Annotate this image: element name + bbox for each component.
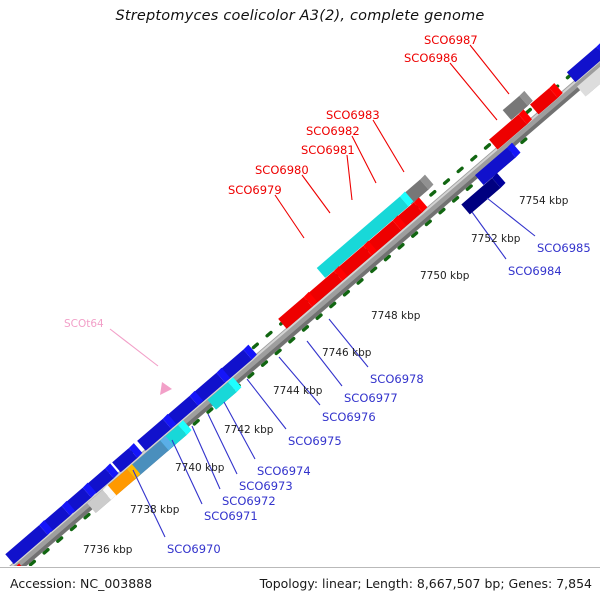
gene-label-sco6986[interactable]: SCO6986 [404,51,458,65]
gene-label-sco6973[interactable]: SCO6973 [239,479,293,493]
leader-line-sco6979 [275,195,304,238]
topology-text: Topology: linear; Length: 8,667,507 bp; … [260,576,592,591]
leader-line-scot64 [110,329,158,366]
leader-line-sco6980 [302,175,330,213]
leader-line-sco6982 [352,136,376,183]
gene-label-sco6982[interactable]: SCO6982 [306,124,360,138]
gene-label-sco6977[interactable]: SCO6977 [344,391,398,405]
axis-tick-label-7742[interactable]: 7742 kbp [224,424,273,436]
gene-label-sco6987[interactable]: SCO6987 [424,33,478,47]
gene-label-sco6978[interactable]: SCO6978 [370,372,424,386]
trna-arrow-shape[interactable] [160,382,172,395]
leader-line-sco6981 [347,155,352,200]
leader-line-sco6983 [373,120,404,172]
gene-label-scot64[interactable]: SCOt64 [64,318,104,330]
strand-minus [0,132,534,600]
axis-tick-label-7740[interactable]: 7740 kbp [175,462,224,474]
axis-tick-label-7736[interactable]: 7736 kbp [83,544,132,556]
axis-tick-label-7744[interactable]: 7744 kbp [273,385,322,397]
gene-label-sco6976[interactable]: SCO6976 [322,410,376,424]
genome-map-canvas[interactable] [0,0,600,600]
axis-tick-label-7750[interactable]: 7750 kbp [420,270,469,282]
leader-line-sco6987 [470,45,509,94]
gene-label-sco6970[interactable]: SCO6970 [167,542,221,556]
gene-label-sco6975[interactable]: SCO6975 [288,434,342,448]
axis-tick-label-7748[interactable]: 7748 kbp [371,310,420,322]
axis-tick-label-7746[interactable]: 7746 kbp [322,347,371,359]
gene-label-sco6985[interactable]: SCO6985 [537,241,591,255]
gene-label-sco6981[interactable]: SCO6981 [301,143,355,157]
status-bar: Accession: NC_003888 Topology: linear; L… [0,567,600,600]
genome-map-viewport[interactable]: Streptomyces coelicolor A3(2), complete … [0,0,600,600]
leader-line-sco6976 [279,357,320,405]
gene-label-sco6972[interactable]: SCO6972 [222,494,276,508]
gene-label-sco6971[interactable]: SCO6971 [204,509,258,523]
leader-line-sco6978 [329,319,368,367]
gene-label-sco6983[interactable]: SCO6983 [326,108,380,122]
gene-label-sco6984[interactable]: SCO6984 [508,264,562,278]
leader-line-sco6972 [192,426,220,489]
axis-tick-label-7738[interactable]: 7738 kbp [130,504,179,516]
axis-tick-label-7754[interactable]: 7754 kbp [519,195,568,207]
gene-label-sco6974[interactable]: SCO6974 [257,464,311,478]
leader-line-sco6986 [450,63,497,120]
trna-marker-arrow[interactable] [160,382,172,395]
gene-label-sco6979[interactable]: SCO6979 [228,183,282,197]
accession-text: Accession: NC_003888 [10,576,152,591]
gene-label-sco6980[interactable]: SCO6980 [255,163,309,177]
axis-tick-label-7752[interactable]: 7752 kbp [471,233,520,245]
gene-feature-layer[interactable] [0,21,600,600]
